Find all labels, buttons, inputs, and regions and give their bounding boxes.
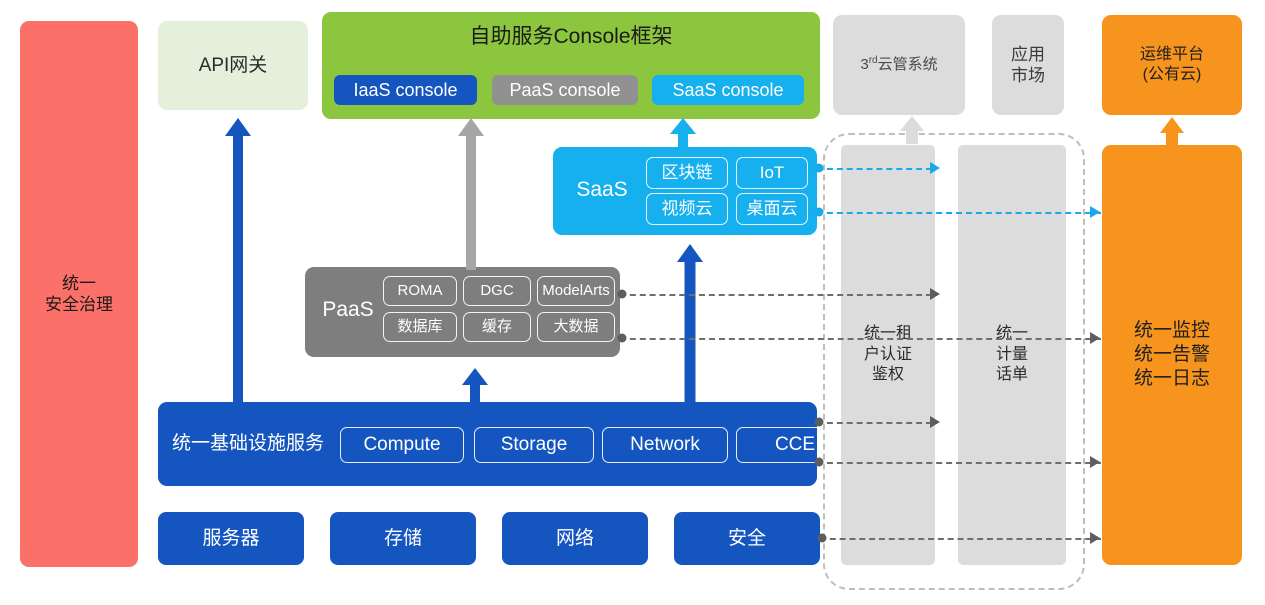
- arrow-infra-to-api-gateway: [225, 118, 251, 403]
- ops-top-line-2: (公有云): [1140, 65, 1204, 85]
- auth-line-2: 户认证: [864, 345, 912, 366]
- ops-side-line-3: 统一日志: [1134, 367, 1210, 391]
- iaas-console-badge[interactable]: IaaS console: [334, 75, 477, 105]
- third-cloud-label: 3rd云管系统: [860, 55, 937, 75]
- paas-chip-roma[interactable]: ROMA: [383, 276, 457, 306]
- dashed-endpoint-dot: [618, 290, 627, 299]
- saas-layer-label: SaaS: [567, 177, 637, 203]
- metering-line-2: 计量: [996, 345, 1028, 366]
- arrow-ops-link: [1159, 117, 1185, 147]
- api-gateway-label: API网关: [199, 54, 268, 78]
- unified-infrastructure-bar: 统一基础设施服务 Compute Storage Network CCE: [158, 402, 817, 486]
- infra-chip-network[interactable]: Network: [602, 427, 728, 463]
- dashed-infra-to-auth: [817, 422, 932, 424]
- metering-line-1: 统一: [996, 324, 1028, 345]
- dashed-endpoint-dot: [815, 208, 824, 217]
- architecture-diagram: 统一 安全治理 API网关 自助服务Console框架 IaaS console…: [0, 0, 1265, 605]
- paas-layer-label: PaaS: [313, 297, 383, 323]
- saas-console-badge[interactable]: SaaS console: [652, 75, 804, 105]
- dashed-arrowhead: [930, 162, 940, 174]
- resource-box-security[interactable]: 安全: [674, 512, 820, 565]
- ops-side-line-1: 统一监控: [1134, 319, 1210, 343]
- dashed-arrowhead: [1090, 532, 1100, 544]
- dashed-endpoint-dot: [815, 418, 824, 427]
- dashed-infra-to-ops: [817, 462, 1101, 464]
- console-frame-title: 自助服务Console框架: [322, 24, 820, 50]
- resource-box-server[interactable]: 服务器: [158, 512, 304, 565]
- saas-chip-iot[interactable]: IoT: [736, 157, 808, 189]
- dashed-resources-to-ops: [820, 538, 1101, 540]
- auth-line-1: 统一租: [864, 324, 912, 345]
- paas-chip-dgc[interactable]: DGC: [463, 276, 531, 306]
- paas-chip-database[interactable]: 数据库: [383, 312, 457, 342]
- resource-box-storage[interactable]: 存储: [330, 512, 476, 565]
- dashed-endpoint-dot: [618, 334, 627, 343]
- paas-layer-box: PaaS ROMA DGC ModelArts 数据库 缓存 大数据: [305, 267, 620, 357]
- saas-chip-desktop-cloud[interactable]: 桌面云: [736, 193, 808, 225]
- dashed-arrowhead: [1090, 206, 1100, 218]
- paas-chip-bigdata[interactable]: 大数据: [537, 312, 615, 342]
- arrow-platform-to-third-cloud: [900, 116, 924, 144]
- dashed-endpoint-dot: [815, 164, 824, 173]
- ops-side-line-2: 统一告警: [1134, 343, 1210, 367]
- saas-layer-box: SaaS 区块链 IoT 视频云 桌面云: [553, 147, 817, 235]
- saas-chip-blockchain[interactable]: 区块链: [646, 157, 728, 189]
- app-market-line-1: 应用: [1011, 44, 1045, 65]
- dashed-endpoint-dot: [815, 458, 824, 467]
- arrow-infra-to-saas: [677, 244, 703, 404]
- infra-chip-storage[interactable]: Storage: [474, 427, 594, 463]
- self-service-console-frame: 自助服务Console框架 IaaS console PaaS console …: [322, 12, 820, 119]
- dashed-arrowhead: [1090, 456, 1100, 468]
- ops-platform-public-cloud-box: 运维平台 (公有云): [1102, 15, 1242, 115]
- arrow-infra-to-paas: [462, 368, 488, 404]
- saas-chip-video-cloud[interactable]: 视频云: [646, 193, 728, 225]
- dashed-arrowhead: [930, 416, 940, 428]
- infrastructure-label: 统一基础设施服务: [172, 432, 324, 456]
- unified-metering-column: 统一 计量 话单: [958, 145, 1066, 565]
- dashed-saas-to-auth: [817, 168, 932, 170]
- unified-security-governance-panel: 统一 安全治理: [20, 21, 138, 567]
- paas-chip-cache[interactable]: 缓存: [463, 312, 531, 342]
- unified-monitoring-panel: 统一监控 统一告警 统一日志: [1102, 145, 1242, 565]
- dashed-arrowhead: [930, 288, 940, 300]
- dashed-paas-to-ops: [620, 338, 1101, 340]
- metering-line-3: 话单: [996, 365, 1028, 386]
- governance-line-1: 统一: [45, 273, 113, 294]
- auth-line-3: 鉴权: [864, 365, 912, 386]
- infra-chip-compute[interactable]: Compute: [340, 427, 464, 463]
- dashed-paas-to-auth: [620, 294, 932, 296]
- resource-box-network[interactable]: 网络: [502, 512, 648, 565]
- paas-chip-modelarts[interactable]: ModelArts: [537, 276, 615, 306]
- ops-top-line-1: 运维平台: [1140, 45, 1204, 65]
- unified-tenant-auth-column: 统一租 户认证 鉴权: [841, 145, 935, 565]
- app-market-line-2: 市场: [1011, 65, 1045, 86]
- arrow-saas-to-console: [670, 118, 696, 150]
- paas-console-badge[interactable]: PaaS console: [492, 75, 638, 105]
- arrow-paas-to-console: [458, 118, 484, 270]
- third-party-cloud-management-box: 3rd云管系统: [833, 15, 965, 115]
- dashed-saas-to-ops: [817, 212, 1101, 214]
- dashed-endpoint-dot: [818, 534, 827, 543]
- app-market-box: 应用 市场: [992, 15, 1064, 115]
- dashed-arrowhead: [1090, 332, 1100, 344]
- api-gateway-box: API网关: [158, 21, 308, 110]
- governance-line-2: 安全治理: [45, 294, 113, 315]
